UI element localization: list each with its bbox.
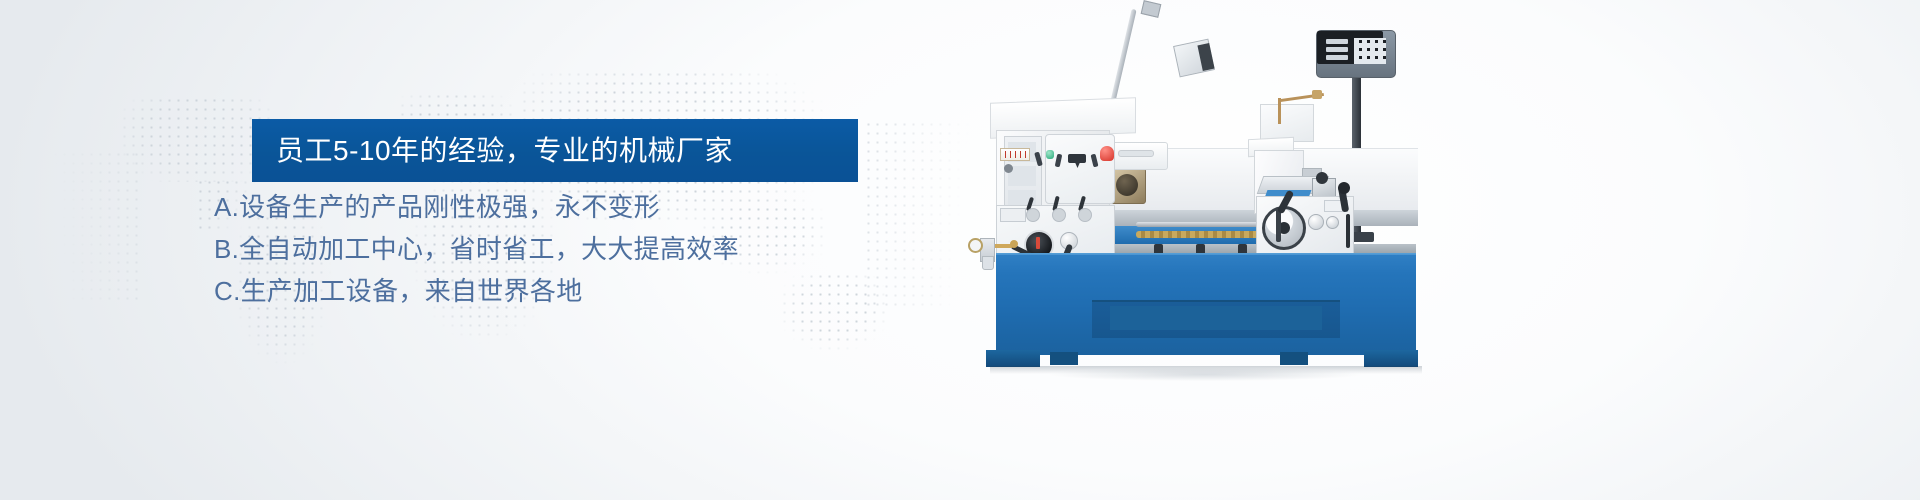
headstock-access-door [1045,134,1115,204]
feature-list: A.设备生产的产品刚性极强，永不变形 B.全自动加工中心，省时省工，大大提高效率… [214,194,914,304]
dro-keypad-icon [1354,38,1386,64]
promo-banner: 员工5-10年的经验，专业的机械厂家 A.设备生产的产品刚性极强，永不变形 B.… [0,0,1920,500]
coolant-hose-icon [1346,214,1350,248]
tool-post-clamp-icon [1316,172,1328,184]
dro-axis-readout-y-icon [1326,47,1348,52]
coolant-tap-icon [1312,90,1322,99]
headline-text: 员工5-10年的经验，专业的机械厂家 [252,137,733,165]
carriage-knob-icon [1308,214,1324,230]
ammeter-gauge-icon [1000,148,1030,161]
gearbox-nameplate [1000,208,1026,222]
work-lamp-head-icon [1141,0,1162,18]
power-on-indicator-icon [1046,150,1054,159]
map-speckle-left [42,150,138,300]
selector-dial-icon [1004,164,1013,173]
gear-selector-hub-icon [1026,208,1040,222]
base-foot-icon [1050,352,1078,365]
lever-ball-knob-icon [1338,182,1350,194]
base-foot-icon [986,350,1040,367]
air-fitting-icon [1010,240,1018,248]
base-foot-icon [1280,352,1308,365]
base-ground-shadow [990,366,1422,374]
map-region-north-america [120,96,270,182]
pressure-gauge-icon [968,238,983,253]
chuck-jaws-icon [1116,174,1138,196]
lathe-machine-image [960,0,1460,390]
work-lamp-arm-icon [1108,9,1136,111]
feature-item-b: B.全自动加工中心，省时省工，大大提高效率 [214,236,914,262]
chuck-guard-handle-icon [1118,150,1154,157]
base-recess-inner [1110,306,1322,330]
gear-selector-hub-icon [1052,208,1066,222]
dro-axis-readout-z-icon [1326,55,1348,60]
feature-item-c: C.生产加工设备，来自世界各地 [214,278,914,304]
air-filter-bowl-icon [982,256,994,270]
emergency-stop-button-icon [1100,146,1114,161]
coolant-downpipe-icon [1278,98,1281,124]
dro-axis-readout-x-icon [1326,39,1348,44]
carriage-knob-icon [1326,216,1339,229]
headline-bar: 员工5-10年的经验，专业的机械厂家 [252,119,858,182]
gear-selector-hub-icon [1078,208,1092,222]
feature-item-a: A.设备生产的产品刚性极强，永不变形 [214,194,914,220]
base-foot-icon [1364,350,1418,367]
